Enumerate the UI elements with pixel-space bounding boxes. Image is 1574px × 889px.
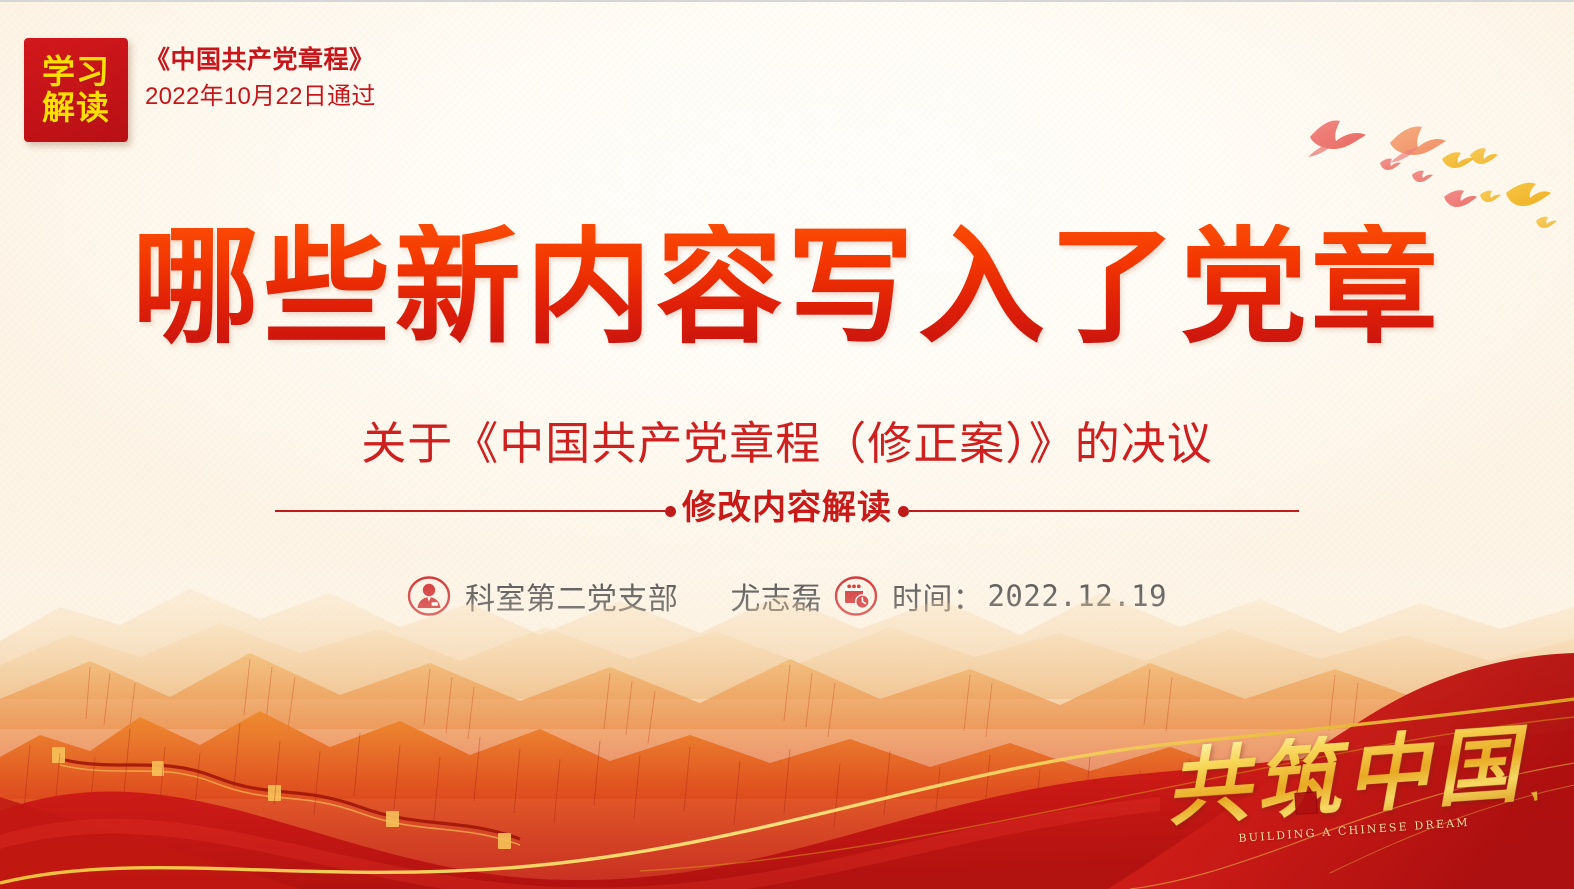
divider-dot-left bbox=[665, 506, 676, 517]
dove-icon bbox=[1308, 121, 1366, 157]
divider-dot-right bbox=[898, 506, 909, 517]
study-interpretation-badge: 学习 解读 bbox=[24, 38, 128, 142]
document-date: 2022年10月22日通过 bbox=[145, 80, 376, 114]
divider-rule-left bbox=[275, 510, 665, 512]
dove-icon bbox=[1470, 148, 1498, 164]
seal-stamp-icon bbox=[1294, 791, 1317, 814]
slide-root: 学习 解读 《中国共产党章程》 2022年10月22日通过 哪些新内容写入了党章… bbox=[0, 0, 1574, 889]
badge-line-2: 解读 bbox=[42, 90, 110, 126]
header-block: 学习 解读 《中国共产党章程》 2022年10月22日通过 bbox=[24, 38, 376, 142]
dove-icon bbox=[1480, 191, 1501, 202]
page-subtitle: 关于《中国共产党章程（修正案）》的决议 bbox=[0, 417, 1574, 471]
document-title: 《中国共产党章程》 bbox=[145, 44, 376, 78]
dove-icon bbox=[1380, 159, 1401, 170]
divider-rule-right bbox=[909, 510, 1299, 512]
header-text: 《中国共产党章程》 2022年10月22日通过 bbox=[145, 44, 376, 113]
dove-icon bbox=[1412, 171, 1433, 182]
dove-icon bbox=[1444, 190, 1477, 207]
dove-icon bbox=[1390, 127, 1446, 163]
dove-icon bbox=[1506, 183, 1551, 206]
page-title: 哪些新内容写入了党章 bbox=[0, 224, 1574, 351]
dove-icon bbox=[1442, 152, 1474, 168]
section-divider: 修改内容解读 bbox=[0, 494, 1574, 528]
divider-label: 修改内容解读 bbox=[676, 491, 898, 525]
calligraphy-chinese: 共筑中国梦 bbox=[1163, 721, 1538, 831]
badge-line-1: 学习 bbox=[42, 54, 110, 90]
